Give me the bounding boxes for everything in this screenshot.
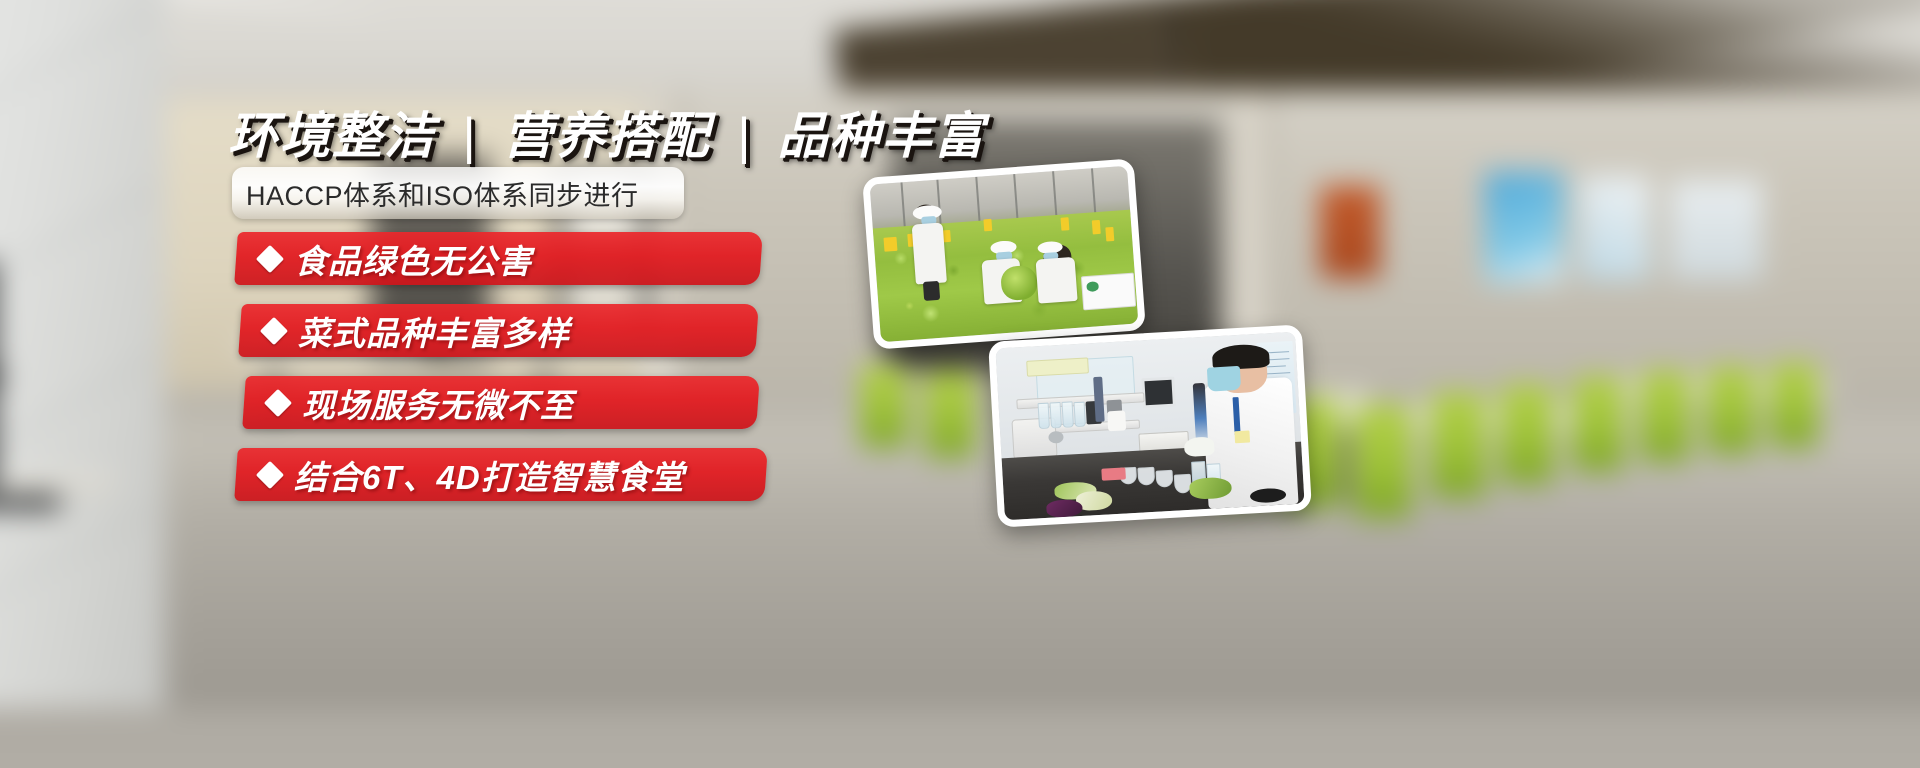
worker-coat — [1035, 257, 1077, 304]
wash-bottle — [1107, 410, 1126, 432]
certification-text: HACCP体系和ISO体系同步进行 — [232, 174, 639, 213]
feature-bar-4[interactable]: 结合6T、4D打造智慧食堂 — [234, 448, 768, 501]
gloved-hand — [1184, 436, 1215, 457]
greenhouse-photo-image — [870, 166, 1139, 342]
worker-coat — [911, 222, 946, 284]
feature-bar-3[interactable]: 现场服务无微不至 — [242, 376, 760, 429]
lab-hatch-window — [1141, 376, 1176, 408]
sample-case — [1081, 273, 1137, 310]
headline-part-3: 品种丰富 — [778, 108, 986, 164]
headline-separator: | — [727, 108, 762, 164]
technician-badge — [1234, 431, 1250, 444]
laboratory-testing-photo[interactable] — [988, 324, 1312, 527]
banner-content: 环境整洁 | 营养搭配 | 品种丰富 HACCP体系和ISO体系同步进行 食品绿… — [0, 0, 1920, 768]
diamond-icon — [256, 244, 284, 272]
feature-bar-4-label: 结合6T、4D打造智慧食堂 — [294, 451, 685, 499]
sample-container — [1101, 467, 1126, 480]
page-title: 环境整洁 | 营养搭配 | 品种丰富 — [228, 96, 986, 168]
diamond-icon — [264, 388, 292, 416]
feature-bar-1-label: 食品绿色无公害 — [294, 235, 532, 283]
headline-separator: | — [452, 108, 487, 164]
greenhouse-inspection-photo[interactable] — [862, 158, 1146, 349]
feature-bar-3-label: 现场服务无微不至 — [302, 379, 574, 427]
feature-bar-1[interactable]: 食品绿色无公害 — [234, 232, 763, 285]
diamond-icon — [256, 460, 284, 488]
laboratory-photo-image — [995, 332, 1304, 520]
worker-skirt — [923, 281, 940, 301]
certification-callout: HACCP体系和ISO体系同步进行 — [232, 167, 684, 219]
technician-mask — [1207, 366, 1241, 392]
promo-banner: 环境整洁 | 营养搭配 | 品种丰富 HACCP体系和ISO体系同步进行 食品绿… — [0, 0, 1920, 768]
headline-part-2: 营养搭配 — [503, 108, 711, 164]
headline-part-1: 环境整洁 — [228, 108, 436, 164]
feature-bar-2-label: 菜式品种丰富多样 — [298, 307, 570, 355]
diamond-icon — [260, 316, 288, 344]
feature-bar-2[interactable]: 菜式品种丰富多样 — [238, 304, 759, 357]
